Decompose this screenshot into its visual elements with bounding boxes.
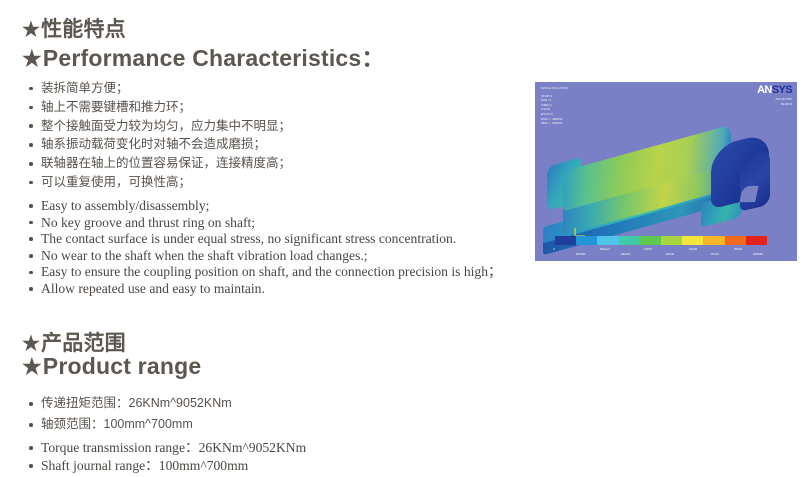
list-item: 传递扭矩范围：26KNm^9052KNm	[28, 393, 232, 414]
product-range-heading-en-text: Product range	[43, 353, 202, 379]
legend-swatch	[746, 236, 767, 245]
list-item: The contact surface is under equal stres…	[28, 231, 502, 248]
list-item: 轴系振动载荷变化时对轴不会造成磨损；	[28, 135, 291, 154]
star-icon: ★	[22, 48, 42, 70]
legend-tick: .19240	[688, 247, 697, 251]
fea-figure-bottom-margin	[535, 261, 797, 277]
list-item: Easy to assembly/disassembly;	[28, 198, 502, 215]
performance-heading-en: ★Performance Characteristics：	[22, 39, 385, 73]
product-range-bullets-cn: 传递扭矩范围：26KNm^9052KNm 轴颈范围：100mm^700mm	[28, 393, 232, 435]
performance-heading-en-text: Performance Characteristics：	[43, 45, 385, 71]
legend-tick: .22447	[710, 252, 719, 256]
legend-tick: .12827	[643, 247, 652, 251]
list-item: 整个接触面受力较为均匀，应力集中不明显；	[28, 117, 291, 136]
list-item: No wear to the shaft when the shaft vibr…	[28, 248, 502, 265]
fea-legend-tick-labels: 0 .0641e3 .12827 .19240 .25654 .032182 .…	[551, 247, 777, 259]
list-item: Allow repeated use and easy to maintain.	[28, 281, 502, 298]
product-range-bullets-en: Torque transmission range：26KNm^9052KNm …	[28, 439, 306, 475]
legend-swatch	[576, 236, 597, 245]
legend-swatch	[640, 236, 661, 245]
legend-tick: .0641e3	[599, 247, 610, 251]
ansys-logo-an: AN	[757, 84, 772, 96]
legend-swatch	[619, 236, 640, 245]
performance-bullets-cn: 装拆简单方便； 轴上不需要键槽和推力环； 整个接触面受力较为均匀，应力集中不明显…	[28, 79, 291, 192]
legend-swatch	[725, 236, 746, 245]
list-item: 轴上不需要键槽和推力环；	[28, 98, 291, 117]
legend-tick: .16042	[665, 252, 674, 256]
performance-heading-cn-text: 性能特点	[41, 18, 126, 41]
legend-swatch	[682, 236, 703, 245]
fea-timestamp-time: 09:08:04	[757, 102, 792, 106]
performance-bullets-en: Easy to assembly/disassembly; No key gro…	[28, 198, 502, 298]
legend-swatch	[597, 236, 618, 245]
legend-tick: 0	[553, 247, 555, 251]
list-item: 联轴器在轴上的位置容易保证，连接精度高；	[28, 154, 291, 173]
list-item: Shaft journal range：100mm^700mm	[28, 457, 306, 475]
list-item: No key groove and thrust ring on shaft;	[28, 215, 502, 232]
ansys-logo: ANSYS JUN 28 2007 09:08:04	[757, 85, 792, 107]
star-icon: ★	[22, 335, 40, 355]
fea-meta-title: NODAL SOLUTION	[541, 86, 568, 91]
fea-timestamp-date: JUN 28 2007	[757, 97, 792, 101]
legend-tick: .032182	[575, 252, 586, 256]
ansys-logo-sys: SYS	[772, 84, 792, 96]
legend-tick: .25654	[733, 247, 742, 251]
ansys-fea-figure: NODAL SOLUTION STEP=1 SUB =1 TIME=1 USUM…	[535, 82, 797, 277]
list-item: 可以重复使用，可换性高；	[28, 173, 291, 192]
legend-swatch	[703, 236, 724, 245]
legend-swatch	[661, 236, 682, 245]
legend-tick: .096247	[620, 252, 631, 256]
ansys-logo-mark: ANSYS	[757, 85, 792, 96]
legend-tick: .290642	[752, 252, 763, 256]
star-icon: ★	[22, 21, 40, 41]
list-item: Torque transmission range：26KNm^9052KNm	[28, 439, 306, 457]
fea-meta-line: SMX = .290642	[541, 121, 568, 126]
fea-solution-metadata: NODAL SOLUTION STEP=1 SUB =1 TIME=1 USUM…	[541, 86, 568, 126]
product-range-heading-cn-text: 产品范围	[41, 332, 126, 355]
list-item: 装拆简单方便；	[28, 79, 291, 98]
legend-swatch	[555, 236, 576, 245]
star-icon: ★	[22, 356, 42, 378]
product-range-heading-en: ★Product range	[22, 353, 201, 380]
list-item: 轴颈范围：100mm^700mm	[28, 414, 232, 435]
list-item: Easy to ensure the coupling position on …	[28, 264, 502, 281]
fea-color-legend	[555, 236, 767, 245]
